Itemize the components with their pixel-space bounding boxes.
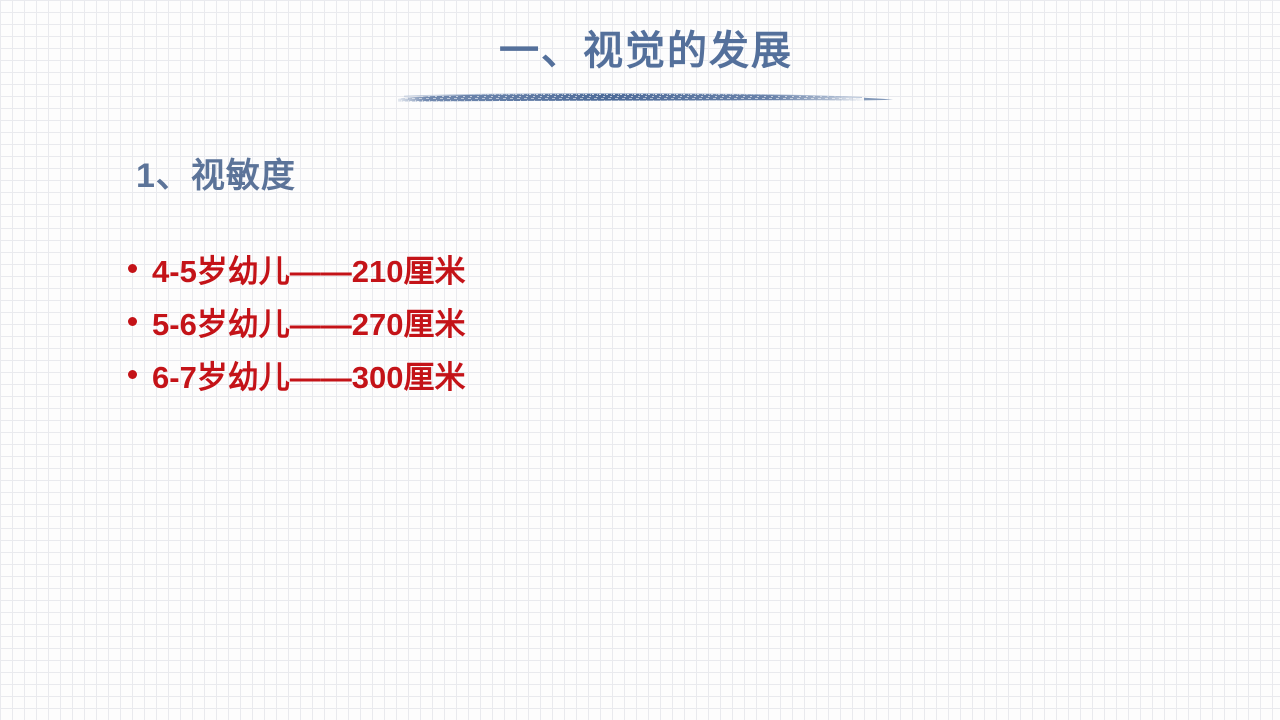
bullet-list: 4-5岁幼儿——210厘米 5-6岁幼儿——270厘米 6-7岁幼儿——300厘… bbox=[128, 246, 466, 405]
list-item-label: 6-7岁幼儿——300厘米 bbox=[152, 352, 466, 397]
list-item: 6-7岁幼儿——300厘米 bbox=[128, 352, 466, 405]
round-dot-icon bbox=[128, 370, 137, 379]
list-item: 4-5岁幼儿——210厘米 bbox=[128, 246, 466, 299]
title-block: 一、视觉的发展 bbox=[396, 26, 896, 106]
brush-stroke-icon bbox=[396, 86, 896, 112]
list-item: 5-6岁幼儿——270厘米 bbox=[128, 299, 466, 352]
round-dot-icon bbox=[128, 317, 137, 326]
section-heading: 1、视敏度 bbox=[136, 153, 296, 199]
list-item-label: 5-6岁幼儿——270厘米 bbox=[152, 299, 466, 344]
page-title: 一、视觉的发展 bbox=[396, 26, 896, 76]
list-item-label: 4-5岁幼儿——210厘米 bbox=[152, 246, 466, 291]
round-dot-icon bbox=[128, 264, 137, 273]
slide-canvas: 一、视觉的发展 bbox=[0, 0, 1280, 720]
